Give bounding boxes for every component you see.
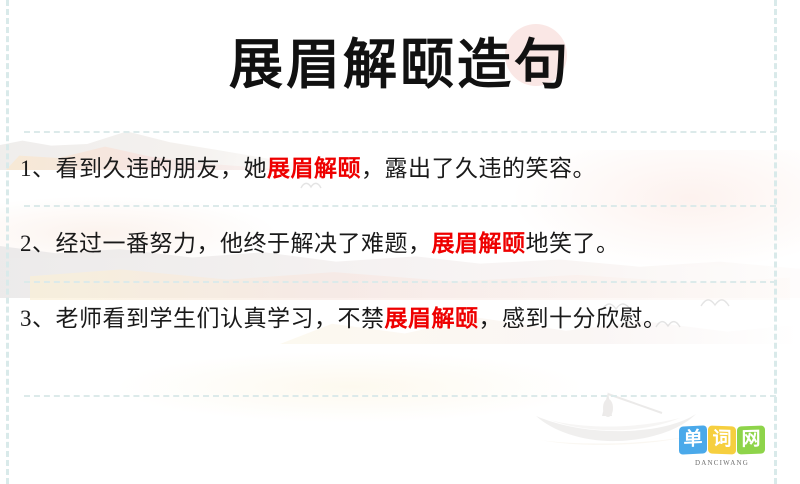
sentence-text-before-3: 老师看到学生们认真学习，不禁 bbox=[56, 306, 385, 331]
example-sentence-1: 1、看到久违的朋友，她展眉解颐，露出了久违的笑容。 bbox=[20, 150, 768, 188]
example-sentence-2: 2、经过一番努力，他终于解决了难题，展眉解颐地笑了。 bbox=[20, 225, 768, 263]
idiom-highlight-2: 展眉解颐 bbox=[432, 231, 526, 256]
sentence-number-1: 1、 bbox=[20, 156, 56, 181]
wash-bottom-decoration bbox=[120, 352, 580, 422]
site-logo[interactable]: 单 词 网 DANCIWANG bbox=[676, 426, 768, 467]
page-title: 展眉解颐造句 bbox=[0, 32, 800, 100]
logo-char-block-1: 单 bbox=[679, 425, 707, 454]
sentence-number-2: 2、 bbox=[20, 231, 56, 256]
sentence-text-before-1: 看到久违的朋友，她 bbox=[56, 156, 268, 181]
separator-line-2 bbox=[24, 205, 776, 207]
logo-caption: DANCIWANG bbox=[676, 459, 768, 467]
separator-line-1 bbox=[24, 131, 776, 133]
mountain-mid-warm-decoration bbox=[30, 266, 790, 300]
sentence-text-before-2: 经过一番努力，他终于解决了难题， bbox=[56, 231, 432, 256]
separator-line-3 bbox=[24, 281, 776, 283]
logo-blocks: 单 词 网 bbox=[676, 426, 768, 454]
idiom-highlight-1: 展眉解颐 bbox=[267, 156, 361, 181]
logo-char-block-3: 网 bbox=[737, 426, 765, 455]
logo-char-block-2: 词 bbox=[708, 426, 736, 455]
sentence-text-after-1: ，露出了久违的笑容。 bbox=[361, 156, 596, 181]
sentence-text-after-3: ，感到十分欣慰。 bbox=[479, 306, 667, 331]
idiom-highlight-3: 展眉解颐 bbox=[385, 306, 479, 331]
slide-page: 展眉解颐造句 1、看到久违的朋友，她展眉解颐，露出了久违的笑容。 2、经过一番努… bbox=[0, 0, 800, 484]
example-sentence-3: 3、老师看到学生们认真学习，不禁展眉解颐，感到十分欣慰。 bbox=[20, 300, 768, 338]
sentence-number-3: 3、 bbox=[20, 306, 56, 331]
sentence-text-after-2: 地笑了。 bbox=[526, 231, 620, 256]
separator-line-4 bbox=[24, 395, 776, 397]
